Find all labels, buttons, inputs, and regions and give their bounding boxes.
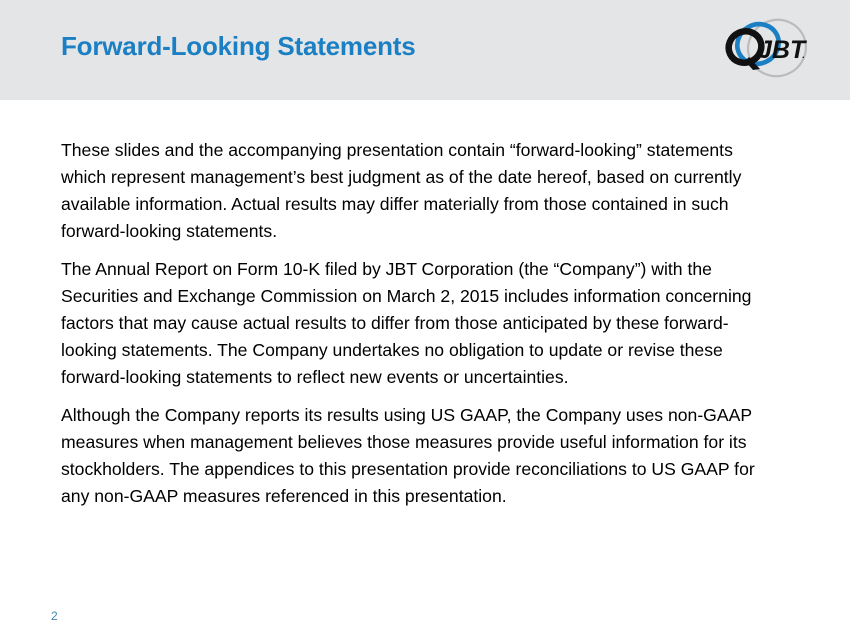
jbt-logo: JBT . [722,17,812,81]
logo-trademark-symbol: . [802,50,805,60]
paragraph-3: Although the Company reports its results… [61,402,777,510]
logo-wordmark: JBT [758,36,808,64]
page-title: Forward-Looking Statements [61,31,416,62]
body-copy: These slides and the accompanying presen… [61,137,777,510]
slide: Forward-Looking Statements JBT . These s… [0,0,850,638]
page-number: 2 [51,609,58,623]
paragraph-1: These slides and the accompanying presen… [61,137,777,245]
paragraph-2: The Annual Report on Form 10-K filed by … [61,256,777,391]
